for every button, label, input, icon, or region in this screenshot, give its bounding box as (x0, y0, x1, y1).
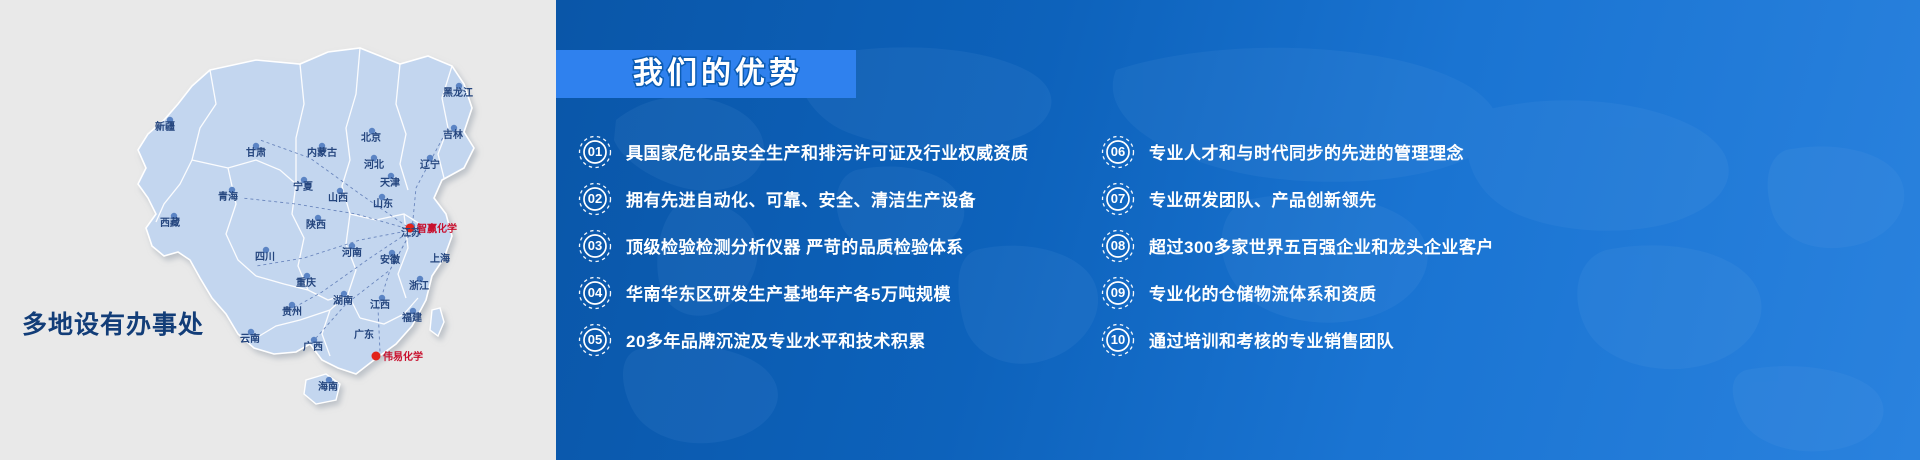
province-label: 辽宁 (420, 158, 440, 171)
advantage-text: 20多年品牌沉淀及专业水平和技术积累 (626, 327, 926, 352)
advantages-column-right: 06专业人才和与时代同步的先进的管理理念07专业研发团队、产品创新领先08超过3… (1101, 128, 1911, 363)
advantage-text: 通过培训和考核的专业销售团队 (1149, 327, 1394, 352)
province-label: 新疆 (155, 120, 175, 133)
province-label: 上海 (430, 252, 450, 265)
advantage-number: 05 (578, 323, 612, 357)
office-caption: 多地设有办事处 (22, 305, 204, 341)
advantage-number: 09 (1101, 276, 1135, 310)
advantage-item[interactable]: 09专业化的仓储物流体系和资质 (1101, 269, 1911, 316)
province-label: 海南 (318, 380, 338, 393)
page-title: 我们的优势 (568, 50, 868, 98)
province-label: 广西 (303, 340, 323, 353)
advantage-text: 顶级检验检测分析仪器 严苛的品质检验体系 (626, 233, 964, 258)
advantage-number-badge: 03 (578, 229, 612, 263)
province-label: 宁夏 (293, 180, 314, 193)
province-label: 重庆 (296, 276, 316, 289)
province-label: 贵州 (282, 305, 302, 318)
advantage-number: 10 (1101, 323, 1135, 357)
province-label: 山东 (373, 197, 393, 210)
advantage-number: 06 (1101, 135, 1135, 169)
advantage-number: 03 (578, 229, 612, 263)
province-label: 安徽 (380, 253, 401, 266)
advantage-number-badge: 04 (578, 276, 612, 310)
advantage-number-badge: 07 (1101, 182, 1135, 216)
map-labels: 新疆西藏青海甘肃内蒙古宁夏陕西四川重庆贵州云南广西广东湖南江西福建浙江安徽河南山… (60, 8, 530, 428)
province-label: 西藏 (160, 216, 180, 229)
province-label: 黑龙江 (443, 86, 473, 99)
advantage-item[interactable]: 01具国家危化品安全生产和排污许可证及行业权威资质 (578, 128, 1118, 175)
province-label: 内蒙古 (307, 146, 337, 159)
province-label: 湖南 (333, 294, 353, 307)
province-label: 陕西 (306, 218, 326, 231)
province-label: 广东 (354, 328, 374, 341)
province-label: 青海 (218, 190, 238, 203)
province-label: 江西 (370, 298, 390, 311)
advantages-column-left: 01具国家危化品安全生产和排污许可证及行业权威资质02拥有先进自动化、可靠、安全… (578, 128, 1118, 363)
advantage-item[interactable]: 02拥有先进自动化、可靠、安全、清洁生产设备 (578, 175, 1118, 222)
office-marker-label: 智赢化学 (417, 222, 457, 235)
advantage-item[interactable]: 10通过培训和考核的专业销售团队 (1101, 316, 1911, 363)
advantage-number: 07 (1101, 182, 1135, 216)
province-label: 四川 (255, 251, 275, 263)
province-label: 河南 (342, 246, 362, 259)
advantage-item[interactable]: 06专业人才和与时代同步的先进的管理理念 (1101, 128, 1911, 175)
province-label: 福建 (401, 311, 423, 324)
advantages-banner: 新疆西藏青海甘肃内蒙古宁夏陕西四川重庆贵州云南广西广东湖南江西福建浙江安徽河南山… (0, 0, 1920, 460)
advantage-number: 08 (1101, 229, 1135, 263)
advantage-number-badge: 10 (1101, 323, 1135, 357)
advantage-item[interactable]: 04华南华东区研发生产基地年产各5万吨规模 (578, 269, 1118, 316)
province-label: 云南 (240, 332, 260, 345)
advantage-text: 专业研发团队、产品创新领先 (1149, 186, 1377, 211)
advantage-text: 拥有先进自动化、可靠、安全、清洁生产设备 (626, 186, 976, 211)
advantages-panel: 我们的优势 01具国家危化品安全生产和排污许可证及行业权威资质02拥有先进自动化… (556, 0, 1920, 460)
advantage-number: 04 (578, 276, 612, 310)
advantage-item[interactable]: 08超过300多家世界五百强企业和龙头企业客户 (1101, 222, 1911, 269)
advantage-number-badge: 08 (1101, 229, 1135, 263)
advantage-text: 专业人才和与时代同步的先进的管理理念 (1149, 139, 1464, 164)
advantage-text: 具国家危化品安全生产和排污许可证及行业权威资质 (626, 139, 1029, 164)
advantage-number: 01 (578, 135, 612, 169)
advantage-item[interactable]: 0520多年品牌沉淀及专业水平和技术积累 (578, 316, 1118, 363)
advantage-number: 02 (578, 182, 612, 216)
advantage-text: 超过300多家世界五百强企业和龙头企业客户 (1149, 233, 1494, 258)
advantage-text: 华南华东区研发生产基地年产各5万吨规模 (626, 280, 951, 305)
province-label: 河北 (364, 158, 384, 171)
advantage-number-badge: 09 (1101, 276, 1135, 310)
province-label: 浙江 (409, 279, 429, 292)
map-panel: 新疆西藏青海甘肃内蒙古宁夏陕西四川重庆贵州云南广西广东湖南江西福建浙江安徽河南山… (0, 0, 556, 460)
province-label: 甘肃 (246, 146, 266, 159)
province-label: 山西 (328, 191, 348, 204)
province-label: 北京 (361, 131, 381, 144)
advantage-number-badge: 05 (578, 323, 612, 357)
province-label: 天津 (380, 176, 400, 189)
province-label: 吉林 (443, 128, 464, 141)
advantage-item[interactable]: 07专业研发团队、产品创新领先 (1101, 175, 1911, 222)
advantage-text: 专业化的仓储物流体系和资质 (1149, 280, 1377, 305)
advantage-number-badge: 01 (578, 135, 612, 169)
office-marker-label: 伟易化学 (383, 350, 423, 363)
advantage-number-badge: 06 (1101, 135, 1135, 169)
advantage-number-badge: 02 (578, 182, 612, 216)
advantage-item[interactable]: 03顶级检验检测分析仪器 严苛的品质检验体系 (578, 222, 1118, 269)
